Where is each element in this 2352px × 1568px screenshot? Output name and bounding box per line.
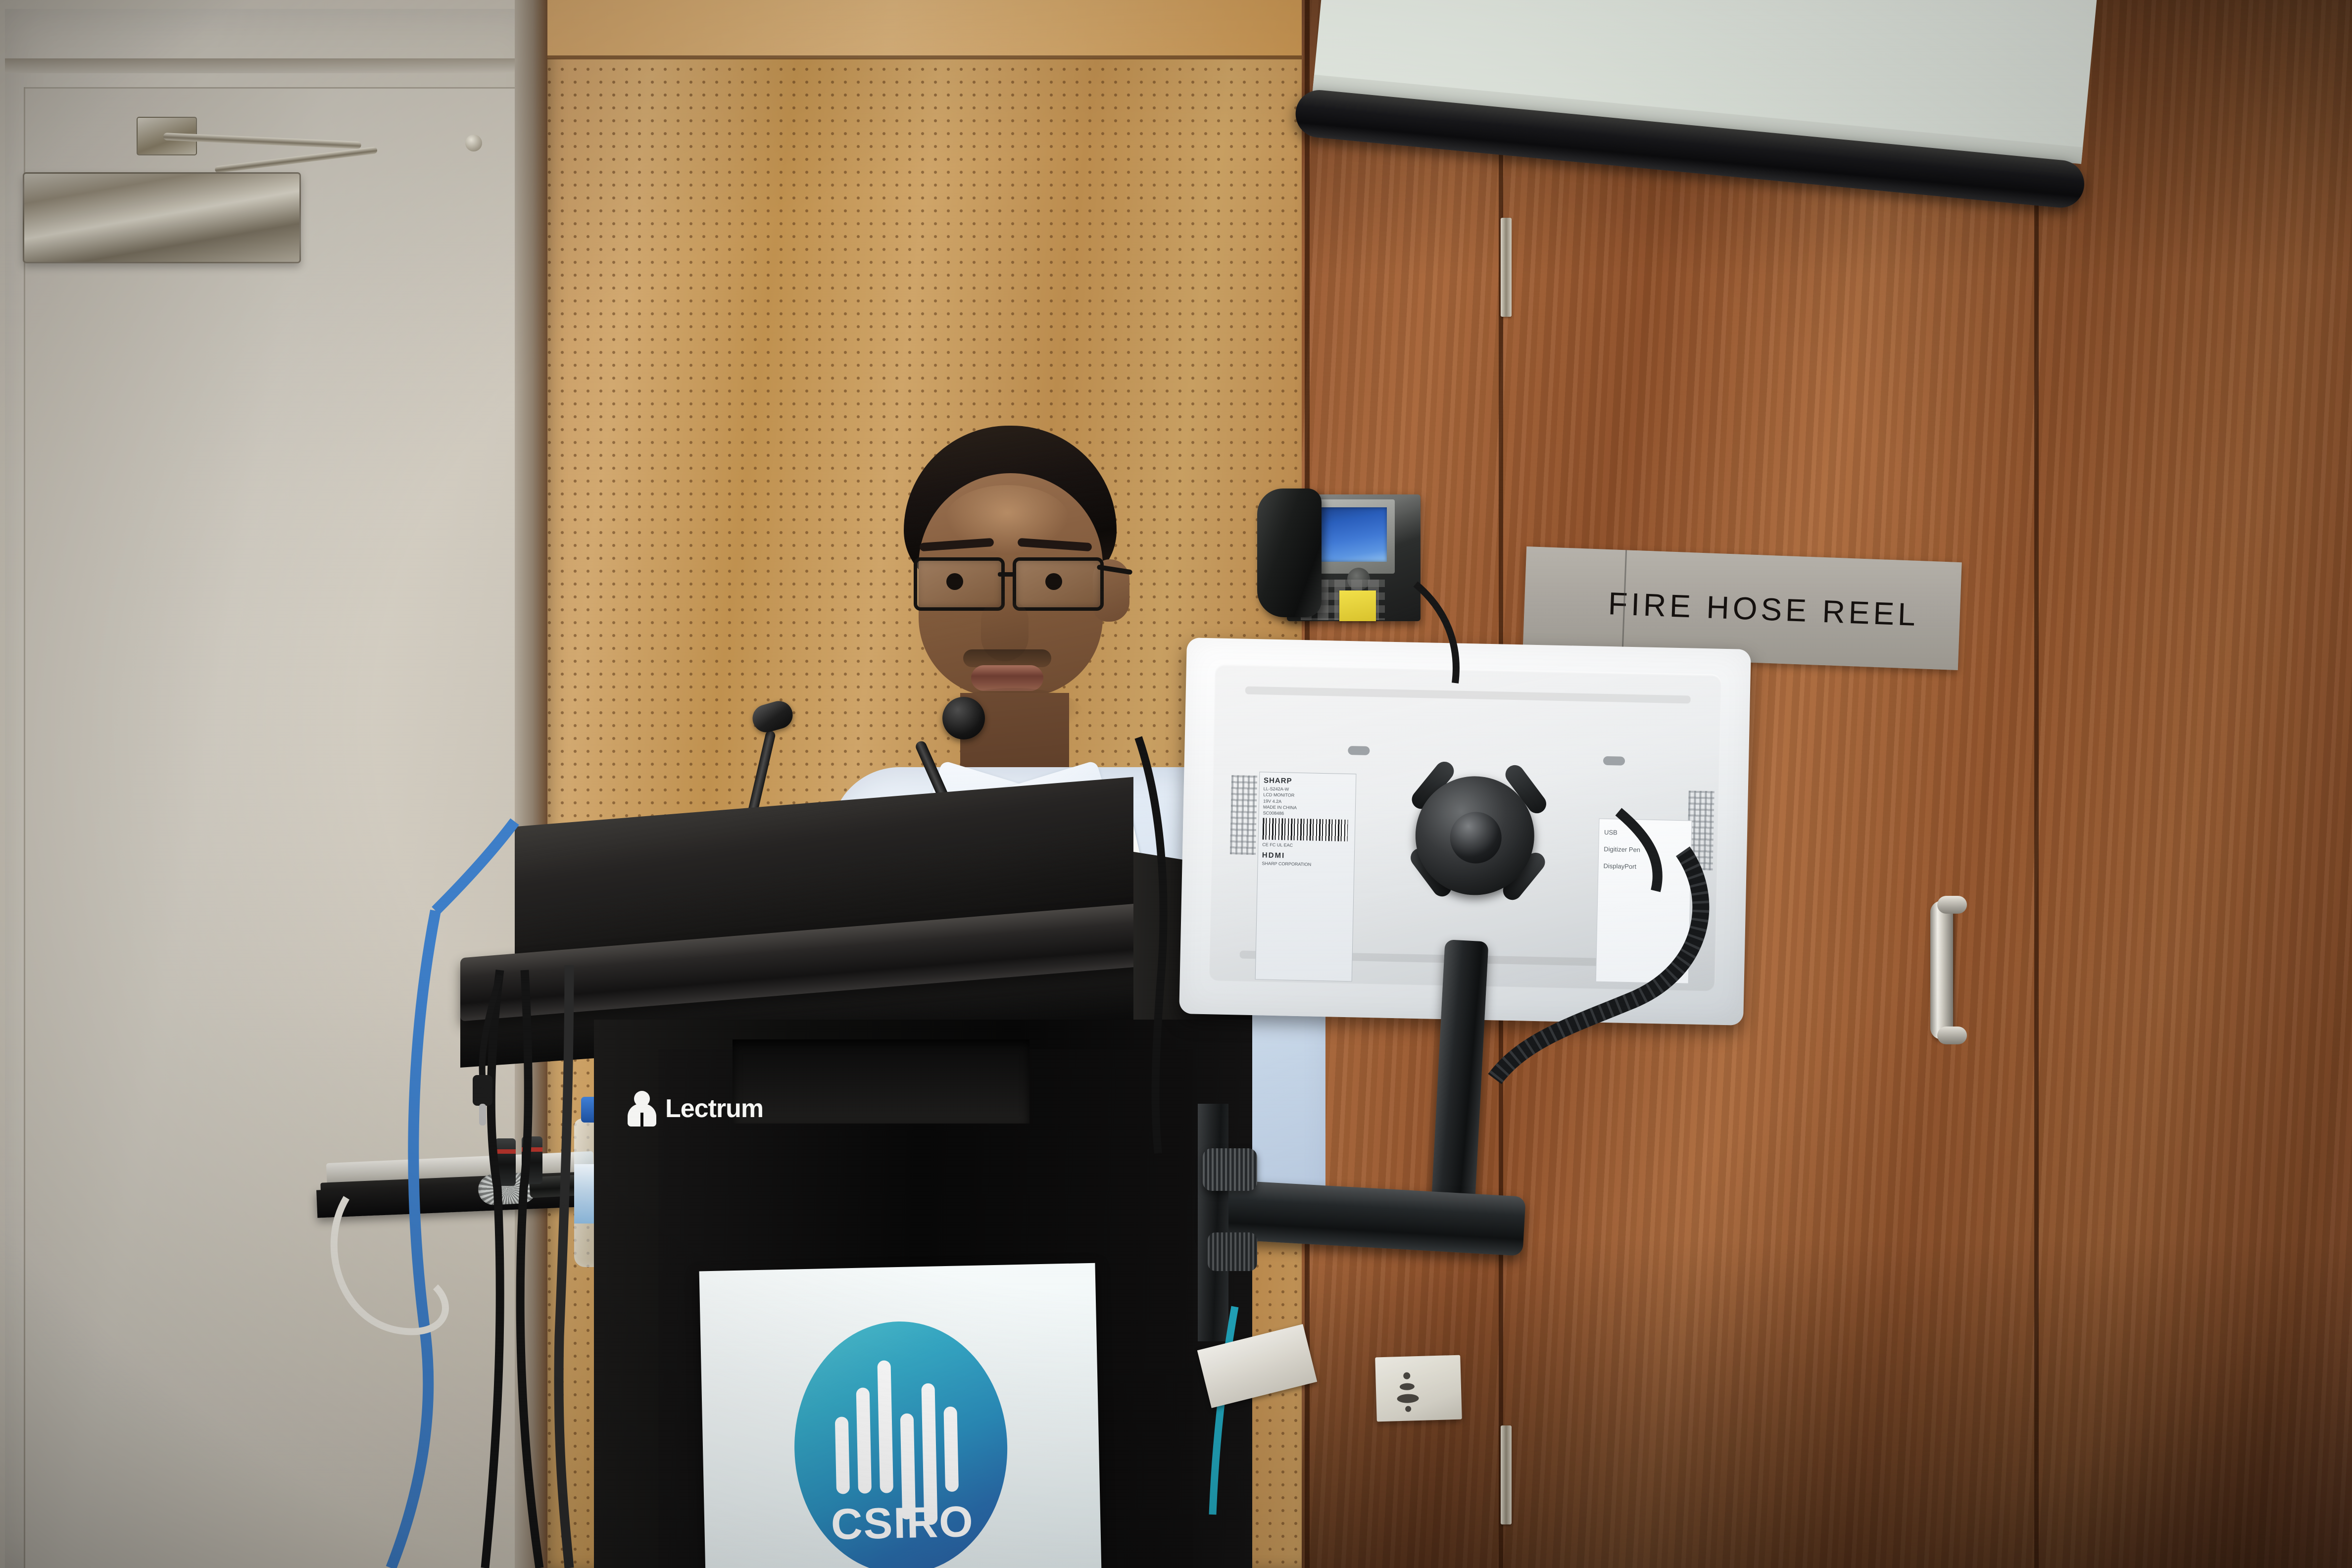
image-grain (0, 0, 2352, 1568)
photo-scene: FIRE HOSE REEL (0, 0, 2352, 1568)
